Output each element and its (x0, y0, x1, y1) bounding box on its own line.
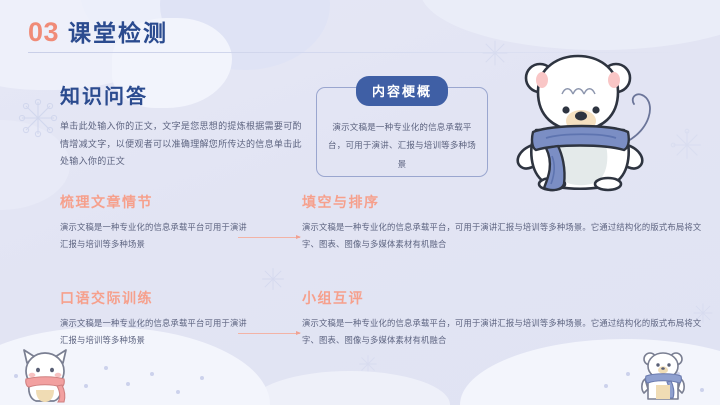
small-bear-mascot (636, 349, 690, 401)
page-title: 课堂检测 (68, 14, 168, 48)
arrow-right-icon (238, 333, 300, 334)
item-body: 演示文稿是一种专业化的信息承载平台，可用于演讲汇报与培训等多种场景。它通过结构化… (302, 315, 702, 349)
item-block-4: 小组互评 演示文稿是一种专业化的信息承载平台，可用于演讲汇报与培训等多种场景。它… (302, 288, 702, 349)
intro-body: 单击此处输入你的正文，文字是您思想的提炼根据需要可酌情增减文字，以便观者可以准确… (60, 118, 310, 171)
page-header: 03 课堂检测 (28, 14, 168, 48)
snowflake-icon (668, 126, 706, 164)
summary-card-body: 演示文稿是一种专业化的信息承载平台，可用于演讲、汇报与培训等多种场景 (327, 118, 477, 173)
item-body: 演示文稿是一种专业化的信息承载平台可用于演讲汇报与培训等多种场景 (60, 315, 250, 349)
cat-mascot (14, 345, 76, 403)
arrow-right-icon (238, 237, 300, 238)
item-body: 演示文稿是一种专业化的信息承载平台，可用于演讲汇报与培训等多种场景。它通过结构化… (302, 219, 702, 253)
item-title: 小组互评 (302, 288, 702, 308)
snowflake-icon (16, 96, 60, 140)
snowflake-icon (258, 264, 288, 294)
intro-title: 知识问答 (60, 80, 310, 109)
section-number: 03 (28, 17, 59, 48)
polar-bear-mascot (500, 52, 660, 202)
summary-card: 内容梗概 演示文稿是一种专业化的信息承载平台，可用于演讲、汇报与培训等多种场景 (316, 87, 488, 177)
item-block-1: 梳理文章情节 演示文稿是一种专业化的信息承载平台可用于演讲汇报与培训等多种场景 (60, 192, 250, 253)
item-body: 演示文稿是一种专业化的信息承载平台可用于演讲汇报与培训等多种场景 (60, 219, 250, 253)
item-title: 口语交际训练 (60, 288, 250, 308)
intro-block: 知识问答 单击此处输入你的正文，文字是您思想的提炼根据需要可酌情增减文字，以便观… (60, 80, 310, 171)
summary-card-pill-label: 内容梗概 (356, 76, 448, 106)
item-block-3: 口语交际训练 演示文稿是一种专业化的信息承载平台可用于演讲汇报与培训等多种场景 (60, 288, 250, 349)
item-title: 梳理文章情节 (60, 192, 250, 212)
